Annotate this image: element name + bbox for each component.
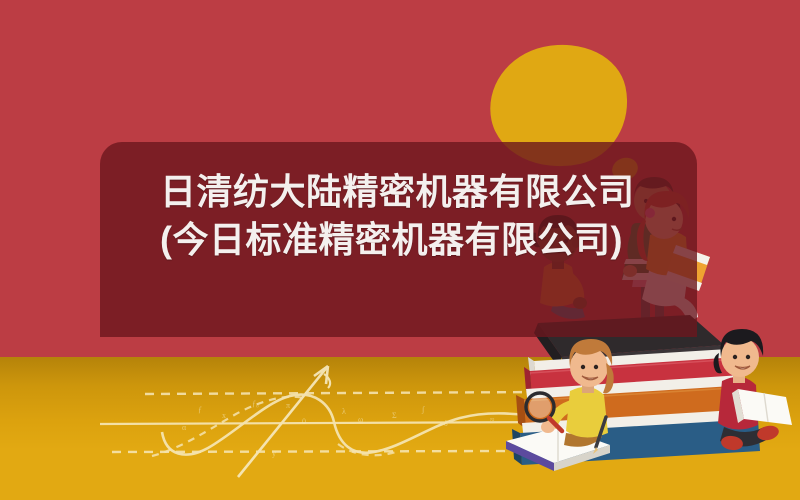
svg-text:π: π bbox=[286, 401, 290, 410]
svg-text:∫: ∫ bbox=[421, 405, 425, 414]
banner-canvas: ƒ x ƒ₀ π 0 λ ω Σ ∫ δ y α ≈ bbox=[0, 0, 800, 500]
svg-text:Σ: Σ bbox=[392, 411, 397, 420]
page-title: 日清纺大陆精密机器有限公司(今日标准精密机器有限公司) bbox=[160, 168, 680, 264]
child-boy-red-shirt-reading bbox=[714, 329, 792, 451]
svg-text:λ: λ bbox=[342, 407, 346, 416]
svg-text:≈: ≈ bbox=[490, 415, 495, 424]
svg-text:0: 0 bbox=[302, 417, 306, 426]
svg-text:x: x bbox=[222, 411, 226, 420]
svg-text:ω: ω bbox=[358, 415, 363, 424]
svg-text:ƒ₀: ƒ₀ bbox=[252, 399, 259, 408]
svg-text:δ: δ bbox=[444, 419, 448, 428]
svg-text:y: y bbox=[272, 449, 276, 458]
svg-text:ƒ: ƒ bbox=[198, 405, 202, 414]
math-curve-decoration: ƒ x ƒ₀ π 0 λ ω Σ ∫ δ y α ≈ bbox=[90, 352, 560, 500]
